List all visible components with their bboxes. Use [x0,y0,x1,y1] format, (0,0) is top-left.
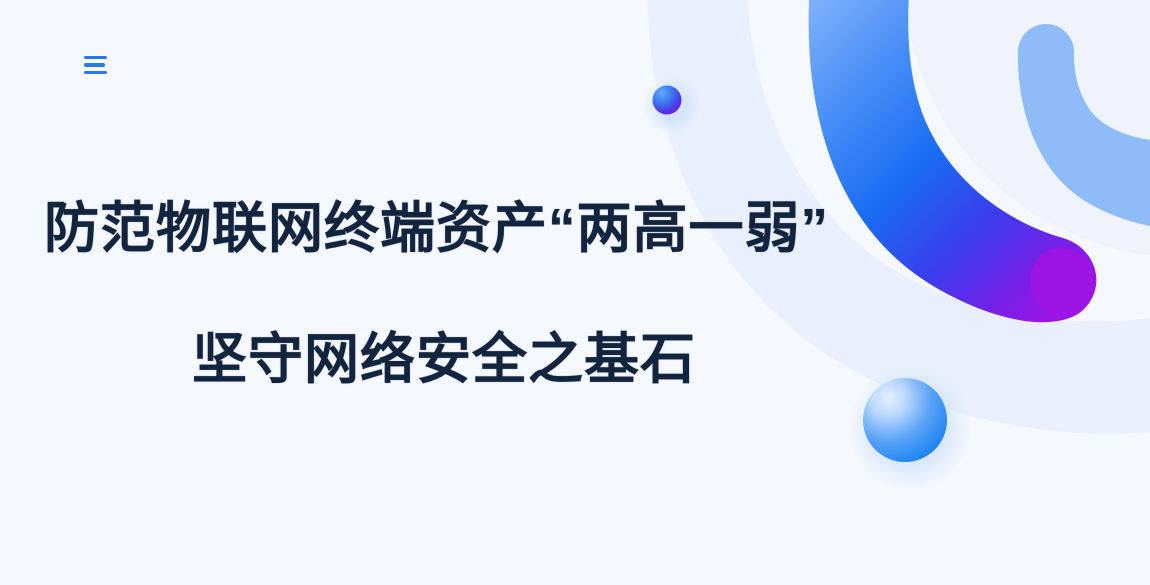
hamburger-menu-icon[interactable] [84,50,114,80]
hero-title-line-2: 坚守网络安全之基石 [44,327,844,392]
small-gradient-sphere [653,86,682,115]
light-blue-arc [1018,24,1150,226]
hamburger-bar-bottom [84,71,107,75]
small-sphere-glow [642,76,702,136]
hamburger-bar-top [84,56,107,60]
arc-purple-cap [1020,238,1105,325]
pale-blue-wedge [900,0,1150,255]
hamburger-bar-middle [84,63,105,67]
slide-canvas: 防范物联网终端资产“两高一弱” 坚守网络安全之基石 [0,0,1150,585]
hero-title-line-1: 防范物联网终端资产“两高一弱” [44,196,880,261]
hero-title-block: 防范物联网终端资产“两高一弱” 坚守网络安全之基石 [0,196,880,392]
